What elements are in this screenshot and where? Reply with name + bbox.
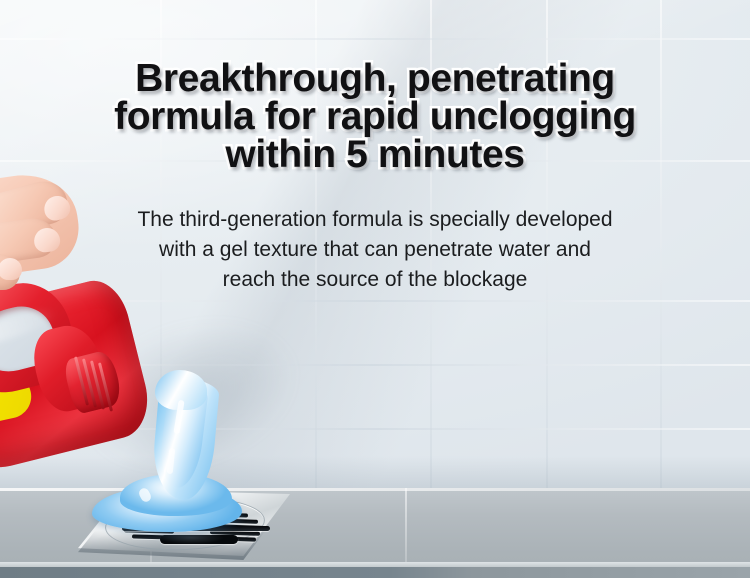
drain-oval-opening <box>160 535 238 544</box>
grout-line-horizontal <box>0 38 750 40</box>
headline: Breakthrough, penetrating formula for ra… <box>0 60 750 174</box>
subheadline-line-1: The third-generation formula is speciall… <box>0 205 750 235</box>
subheadline-line-3: reach the source of the blockage <box>0 265 750 295</box>
subheadline: The third-generation formula is speciall… <box>0 205 750 295</box>
subheadline-line-2: with a gel texture that can penetrate wa… <box>0 235 750 265</box>
advertisement-banner: Breakthrough, penetrating formula for ra… <box>0 0 750 578</box>
headline-line-1: Breakthrough, penetrating <box>0 60 750 98</box>
headline-line-3: within 5 minutes <box>0 136 750 174</box>
headline-line-2: formula for rapid unclogging <box>0 98 750 136</box>
